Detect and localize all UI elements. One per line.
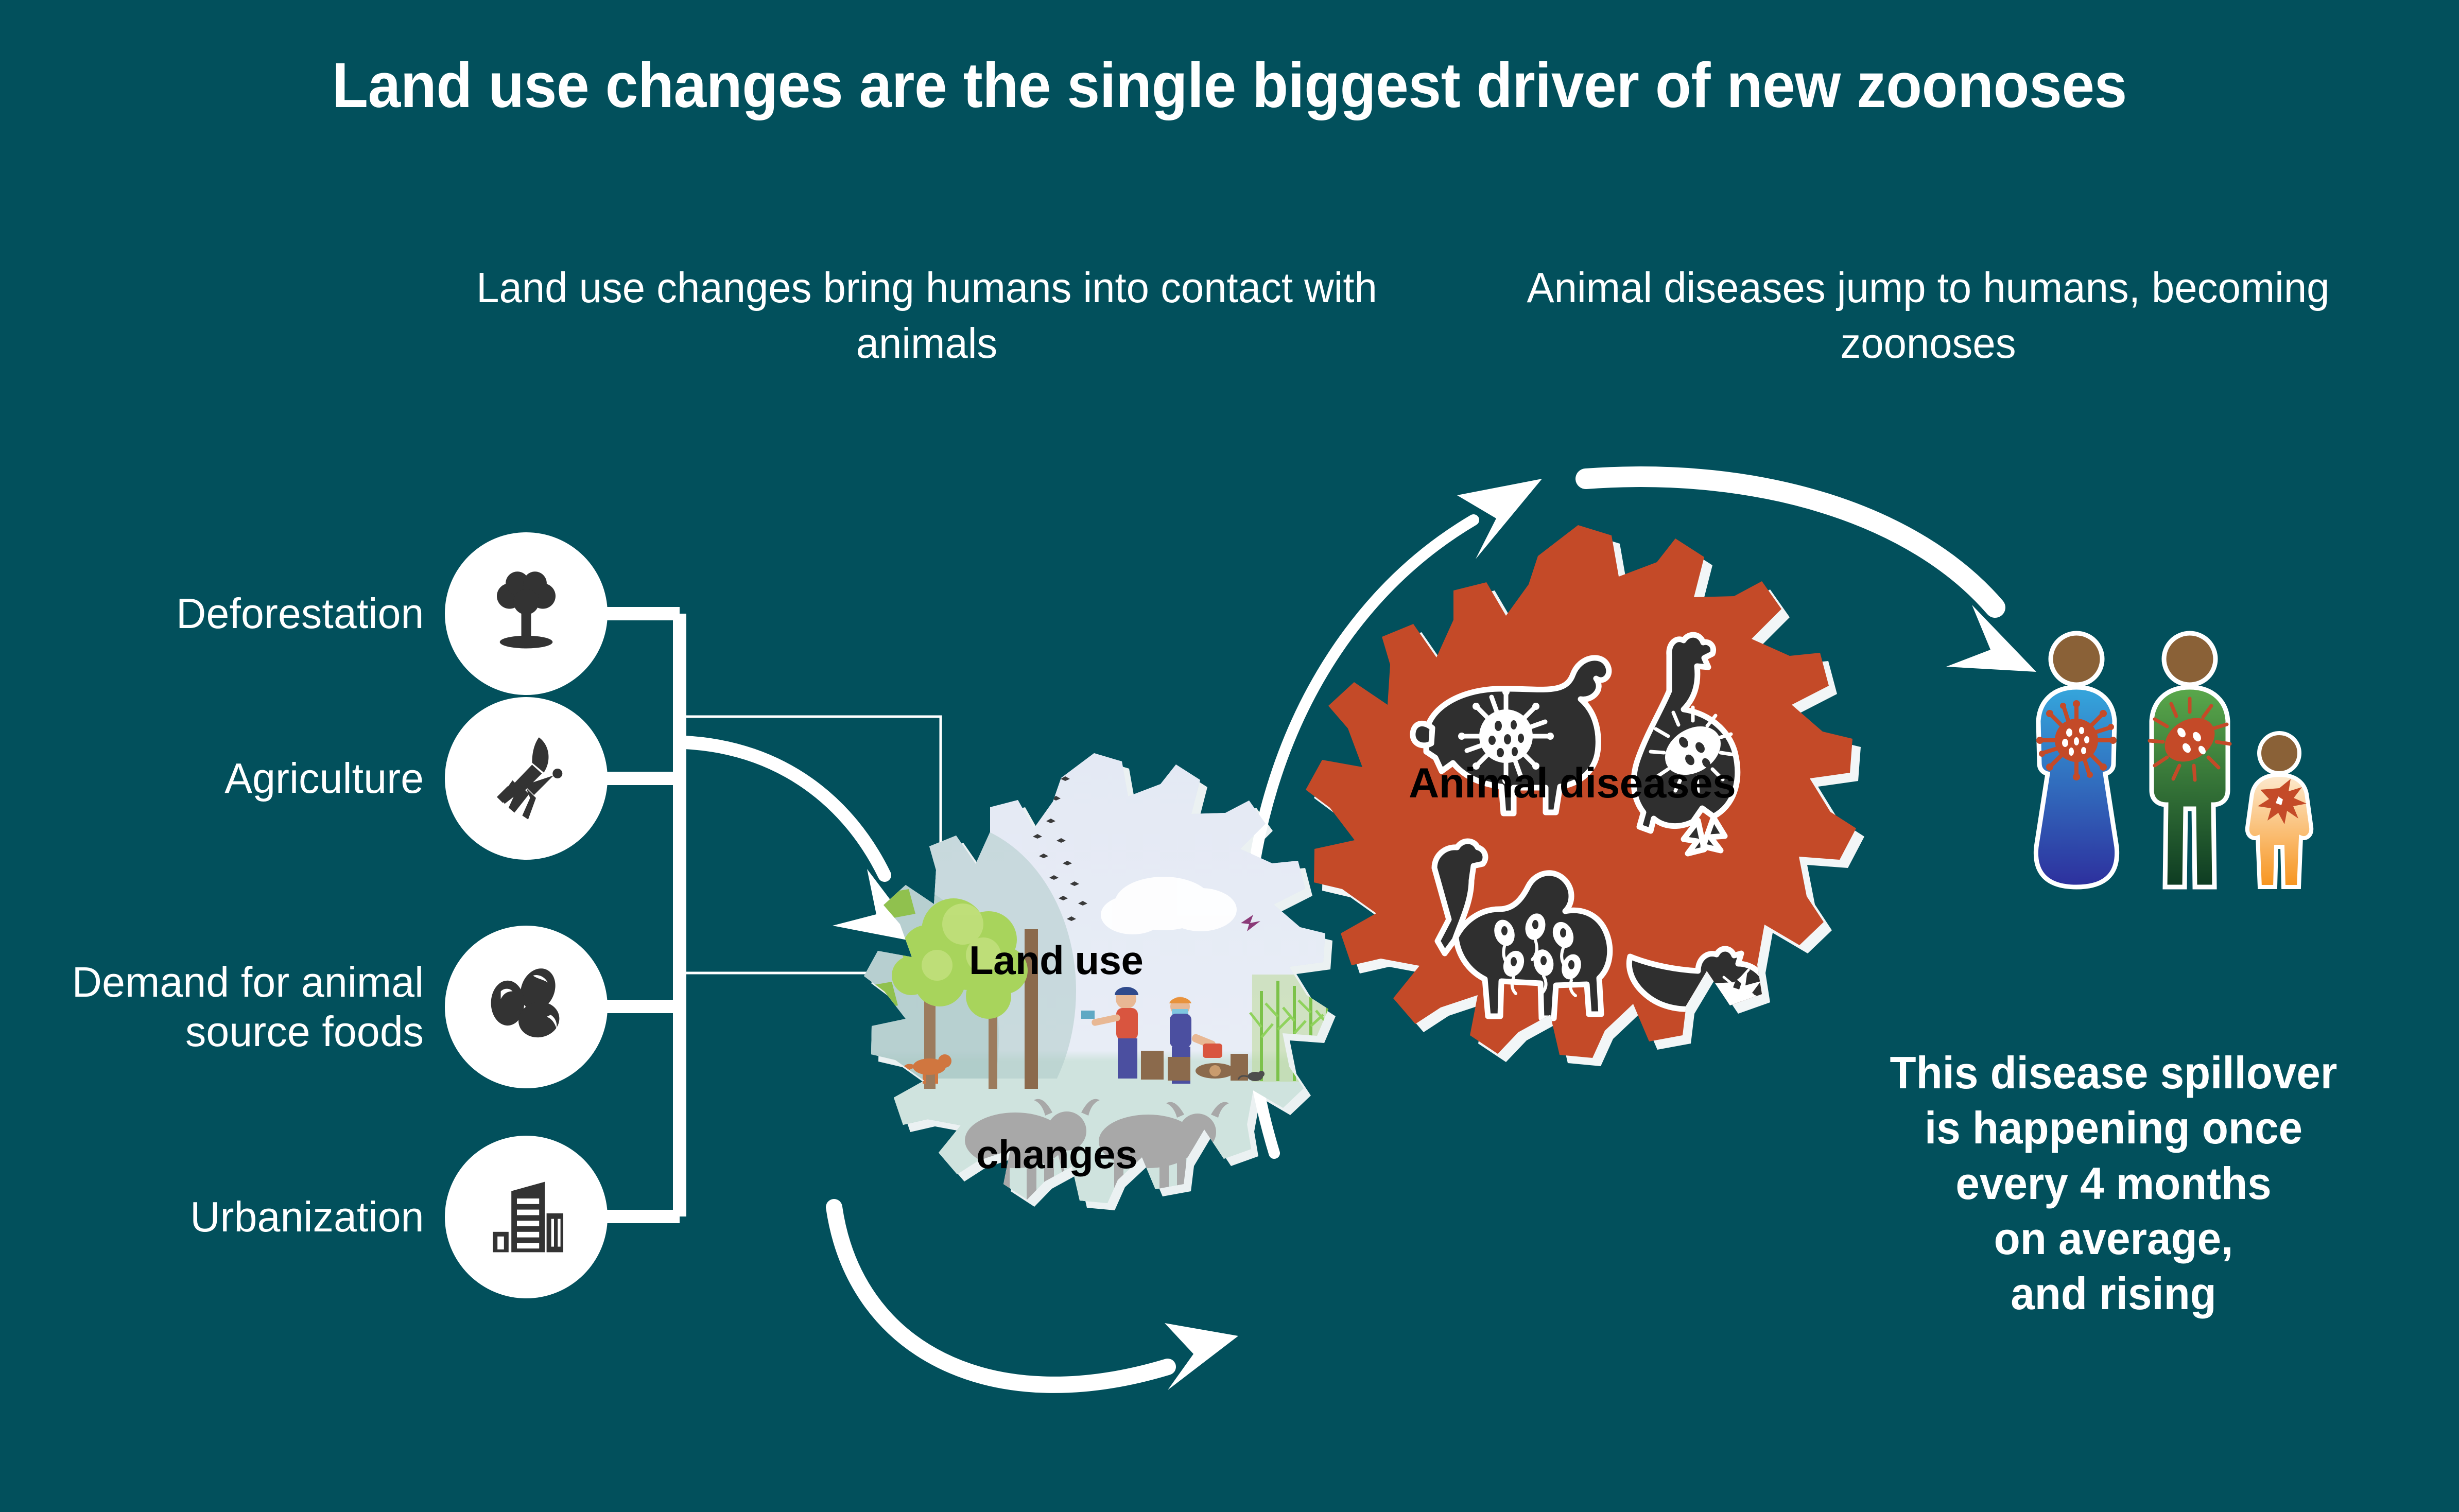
- driver-icon-circle-animal-source-foods[interactable]: [445, 926, 608, 1088]
- driver-row-agriculture[interactable]: Agriculture: [0, 696, 608, 861]
- subtitle-right: Animal diseases jump to humans, becoming…: [1526, 260, 2331, 371]
- driver-row-deforestation[interactable]: Deforestation: [0, 531, 608, 696]
- infographic-canvas: Land use changes are the single biggest …: [0, 0, 2459, 1512]
- driver-label-animal-source-foods: Demand for animal source foods: [13, 958, 445, 1057]
- human-figure-man: [2150, 633, 2230, 887]
- gear-label-animal-diseases: Animal diseases: [1409, 759, 1736, 808]
- gear-label-land-use-line2: changes: [976, 1131, 1137, 1178]
- stat-line-2: is happening once: [1847, 1100, 2380, 1155]
- driver-label-agriculture: Agriculture: [224, 754, 445, 803]
- driver-label-urbanization: Urbanization: [190, 1192, 445, 1242]
- stat-line-3: every 4 months: [1847, 1156, 2380, 1211]
- gear-label-land-use-line1: Land use: [969, 937, 1143, 984]
- stat-line-4: on average,: [1847, 1211, 2380, 1266]
- bracket-stubs: [601, 614, 680, 1216]
- driver-icon-circle-agriculture[interactable]: [445, 697, 608, 860]
- driver-icon-circle-urbanization[interactable]: [445, 1136, 608, 1298]
- virus-icon: [2036, 700, 2117, 780]
- human-figures-group: [2016, 605, 2345, 934]
- driver-row-urbanization[interactable]: Urbanization: [0, 1135, 608, 1299]
- driver-row-animal-source-foods[interactable]: Demand for animal source foods: [0, 925, 608, 1089]
- stat-line-1: This disease spillover: [1847, 1045, 2380, 1100]
- stat-line-5: and rising: [1847, 1266, 2380, 1321]
- stat-callout: This disease spillover is happening once…: [1847, 1045, 2380, 1322]
- human-figure-child: [2247, 733, 2311, 887]
- gear-animal-diseases: Animal diseases: [1272, 520, 1884, 1133]
- driver-label-deforestation: Deforestation: [176, 589, 445, 638]
- page-title: Land use changes are the single biggest …: [86, 49, 2373, 122]
- subtitle-left: Land use changes bring humans into conta…: [472, 260, 1381, 371]
- driver-icon-circle-deforestation[interactable]: [445, 532, 608, 695]
- human-figure-woman: [2036, 633, 2117, 887]
